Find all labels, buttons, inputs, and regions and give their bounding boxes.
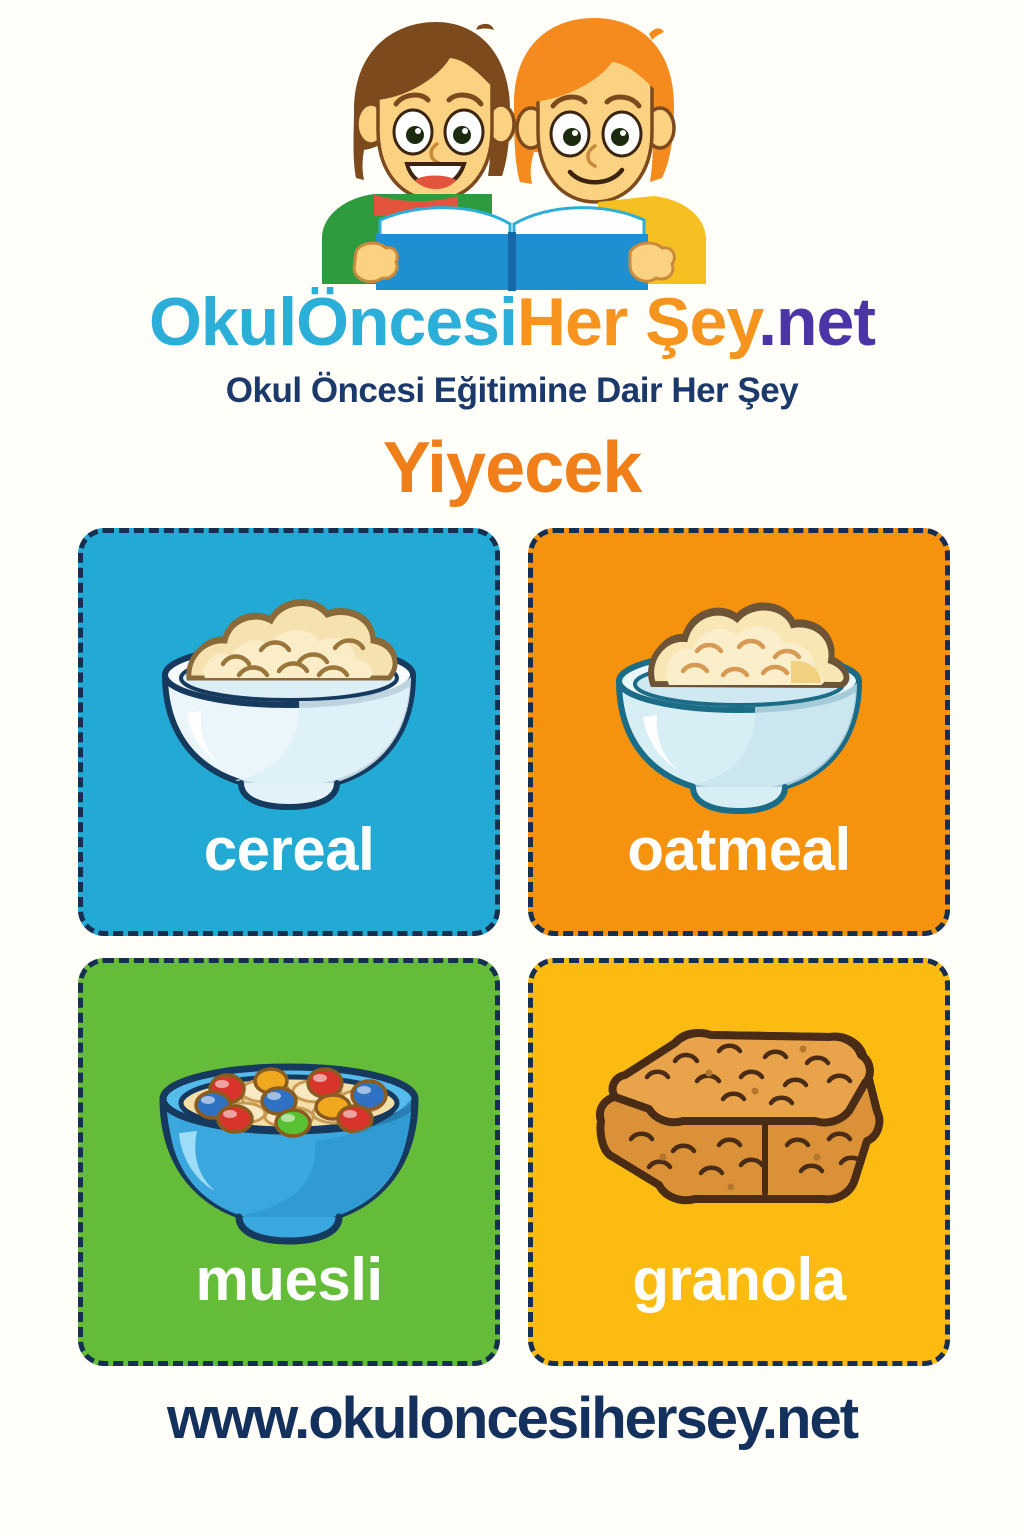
flashcard-label: muesli [195,1250,382,1310]
flashcard-granola[interactable]: granola [528,958,950,1366]
logo-part-okuloncesi: OkulÖncesi [149,284,517,360]
flashcard-label: oatmeal [627,820,850,880]
brand-logo: OkulÖncesiHer Şey.net [0,288,1024,356]
page-title: Yiyecek [0,432,1024,504]
bowl-of-muesli-icon [129,981,449,1246]
flashcard-muesli[interactable]: muesli [78,958,500,1366]
logo-part-net: .net [758,284,875,360]
footer-website-url[interactable]: www.okuloncesihersey.net [0,1390,1024,1448]
kids-reading-illustration [0,6,1024,291]
flashcard-grid: cereal [78,528,950,1366]
bowl-of-oatmeal-icon [579,551,899,816]
bowl-of-cereal-icon [129,551,449,816]
flashcard-label: cereal [204,820,375,880]
logo-part-hersey: Her Şey [517,284,758,360]
flashcard-oatmeal[interactable]: oatmeal [528,528,950,936]
two-children-reading-book-icon [282,6,742,291]
flashcard-cereal[interactable]: cereal [78,528,500,936]
granola-bar-icon [579,981,899,1246]
flashcard-label: granola [632,1250,845,1310]
brand-tagline: Okul Öncesi Eğitimine Dair Her Şey [0,373,1024,408]
